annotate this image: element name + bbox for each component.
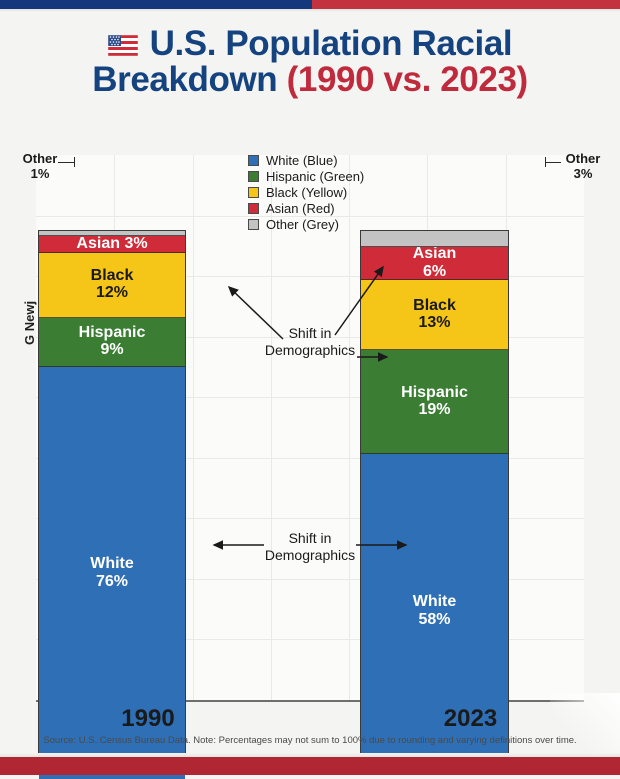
title-main-line1: U.S. Population Racial: [150, 24, 513, 63]
y-axis-watermark: G Newj: [22, 301, 37, 345]
title-line-2: Breakdown (1990 vs. 2023): [0, 62, 620, 98]
bar-segment-label: Black: [91, 267, 134, 284]
x-tick-label-2023: 2023: [396, 705, 545, 733]
bar-segment-value: 9%: [100, 341, 123, 359]
title-line-1: U.S. Population Racial: [0, 26, 620, 62]
title-main-line2: Breakdown: [92, 60, 277, 99]
bar-segment-asian-2023[interactable]: Asian6%: [361, 247, 508, 280]
chart-legend: White (Blue)Hispanic (Green)Black (Yello…: [248, 154, 364, 234]
callout-leader-line-left: [58, 162, 75, 163]
bar-segment-asian-1990[interactable]: Asian 3%: [39, 236, 185, 252]
legend-item-label: Other (Grey): [266, 218, 339, 231]
bar-segment-value: 6%: [423, 263, 446, 280]
callout-leader-line-right: [545, 162, 561, 163]
bar-segment-value: 13%: [418, 314, 450, 332]
bar-segment-other-2023[interactable]: [361, 231, 508, 247]
stacked-bar-1990[interactable]: Asian 3%Black12%Hispanic9%White76%: [38, 230, 186, 775]
top-accent-red: [312, 0, 620, 9]
x-tick-label-1990: 1990: [74, 705, 222, 733]
legend-item-black[interactable]: Black (Yellow): [248, 186, 364, 199]
gridline-vertical: [349, 155, 350, 700]
title-accent-years: (1990 vs. 2023): [287, 60, 528, 99]
annotation-shift-upper: Shift in Demographics: [240, 325, 380, 359]
bar-segment-label: Hispanic: [401, 384, 468, 401]
legend-swatch-icon: [248, 155, 259, 166]
callout-other-2023: Other 3%: [552, 152, 614, 182]
callout-other-2023-label: Other: [552, 152, 614, 167]
bar-segment-label: Asian: [413, 247, 457, 262]
annotation-shift-lower: Shift in Demographics: [248, 530, 372, 564]
bar-segment-value: 76%: [96, 573, 128, 591]
legend-item-label: Black (Yellow): [266, 186, 347, 199]
legend-swatch-icon: [248, 219, 259, 230]
bar-segment-label: Asian 3%: [76, 236, 147, 252]
page-title: U.S. Population Racial Breakdown (1990 v…: [0, 26, 620, 98]
annotation-upper-arrows-icon: [235, 277, 385, 347]
top-accent-navy: [0, 0, 312, 9]
top-accent-shadow: [0, 9, 620, 12]
bar-segment-label: Hispanic: [79, 324, 146, 341]
callout-leader-tick-left: [74, 157, 75, 167]
bar-segment-label: White: [413, 593, 457, 610]
callout-leader-tick-right: [545, 157, 546, 167]
callout-other-1990: Other 1%: [12, 152, 68, 182]
legend-item-hispanic[interactable]: Hispanic (Green): [248, 170, 364, 183]
bar-segment-black-1990[interactable]: Black12%: [39, 253, 185, 318]
top-accent-bar: [0, 0, 620, 9]
bar-segment-hispanic-2023[interactable]: Hispanic19%: [361, 350, 508, 453]
legend-item-asian[interactable]: Asian (Red): [248, 202, 364, 215]
legend-item-other[interactable]: Other (Grey): [248, 218, 364, 231]
legend-swatch-icon: [248, 203, 259, 214]
bar-segment-label: White: [90, 555, 134, 572]
footer-source-note: Source: U.S. Census Bureau Data. Note: P…: [0, 735, 620, 746]
bar-segment-value: 12%: [96, 284, 128, 302]
us-flag-icon: [108, 28, 146, 59]
callout-other-2023-value: 3%: [552, 167, 614, 182]
annotation-lower-arrows-icon: [220, 539, 400, 569]
bar-segment-label: Black: [413, 297, 456, 314]
legend-item-label: Hispanic (Green): [266, 170, 364, 183]
bar-segment-hispanic-1990[interactable]: Hispanic9%: [39, 318, 185, 367]
bar-segment-value: 19%: [418, 401, 450, 419]
infographic-canvas: U.S. Population Racial Breakdown (1990 v…: [0, 0, 620, 775]
legend-swatch-icon: [248, 187, 259, 198]
legend-swatch-icon: [248, 171, 259, 182]
legend-item-label: Asian (Red): [266, 202, 335, 215]
callout-other-1990-value: 1%: [12, 167, 68, 182]
legend-item-white[interactable]: White (Blue): [248, 154, 364, 167]
bar-segment-value: 58%: [418, 611, 450, 629]
gridline-vertical: [193, 155, 194, 700]
callout-other-1990-label: Other: [12, 152, 68, 167]
legend-item-label: White (Blue): [266, 154, 338, 167]
gridline-vertical: [271, 155, 272, 700]
bottom-accent-bar: [0, 757, 620, 775]
